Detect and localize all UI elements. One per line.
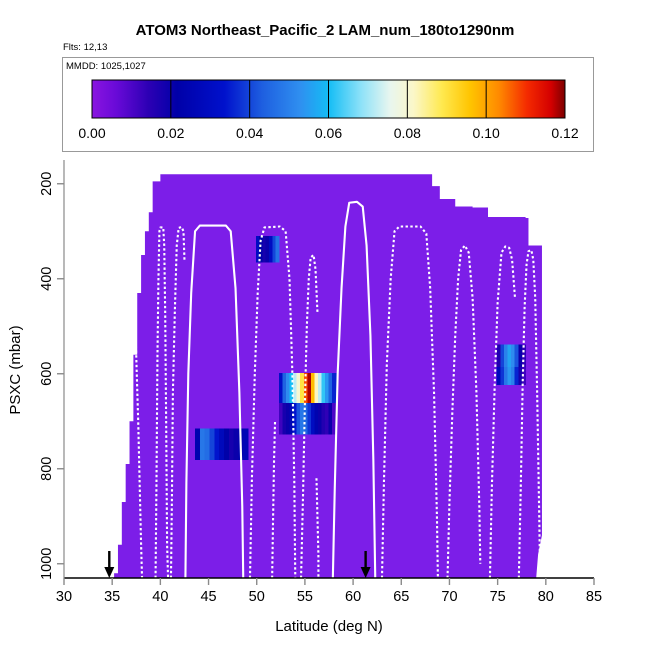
y-tick-label: 1000 [39, 548, 55, 580]
heatmap-cell [219, 428, 224, 460]
heatmap-cell [329, 403, 333, 434]
heatmap-cell [329, 373, 333, 403]
heatmap-cell [195, 428, 200, 460]
heatmap-cell [318, 403, 322, 434]
heatmap-cell [300, 373, 304, 403]
x-tick-label: 60 [345, 589, 361, 605]
heatmap-cell [214, 428, 219, 460]
heatmap-cell [311, 373, 315, 403]
x-axis-ticks: 303540455055606570758085 [56, 578, 602, 605]
y-axis-label: PSXC (mbar) [7, 325, 24, 414]
figure-root: ATOM3 Northeast_Pacific_2 LAM_num_180to1… [0, 0, 650, 650]
x-tick-label: 70 [441, 589, 457, 605]
x-tick-label: 45 [200, 589, 216, 605]
x-tick-label: 30 [56, 589, 72, 605]
colorbar-tick-label: 0.00 [78, 125, 105, 141]
heatmap-cell [508, 367, 512, 385]
y-tick-label: 400 [39, 267, 55, 291]
heatmap-cell [279, 403, 283, 434]
heatmap-cell [500, 367, 504, 385]
colorbar-group: 0.000.020.040.060.080.100.12 [78, 80, 578, 141]
heatmap-cell [500, 344, 504, 367]
heatmap-cell [518, 344, 522, 367]
heatmap-cell [322, 373, 326, 403]
heatmap-cell [314, 373, 318, 403]
y-axis-ticks: 2004006008001000 [39, 172, 64, 580]
heatmap-cell [511, 344, 515, 367]
colorbar-tick-label: 0.08 [394, 125, 421, 141]
x-tick-label: 40 [152, 589, 168, 605]
heatmap-cell [504, 367, 508, 385]
x-axis-label: Latitude (deg N) [275, 618, 383, 635]
y-tick-label: 800 [39, 457, 55, 481]
heatmap-cell [515, 344, 519, 367]
heatmap-cell [511, 367, 515, 385]
heatmap-cell [515, 367, 519, 385]
heatmap-cell [307, 373, 311, 403]
heatmap-cell [322, 403, 326, 434]
colorbar-tick-label: 0.02 [157, 125, 184, 141]
heatmap-cell [314, 403, 318, 434]
heatmap-cell [504, 344, 508, 367]
heatmap-cell [229, 428, 234, 460]
x-tick-label: 65 [393, 589, 409, 605]
heatmap-cell [293, 373, 297, 403]
x-tick-label: 35 [104, 589, 120, 605]
x-tick-label: 50 [249, 589, 265, 605]
heatmap-cell [276, 236, 280, 263]
heatmap-cell [325, 373, 329, 403]
heatmap-cell [508, 344, 512, 367]
colorbar-tick-label: 0.04 [236, 125, 263, 141]
heatmap-cell [200, 428, 205, 460]
heatmap-cell [282, 403, 286, 434]
heatmap-cell [297, 373, 301, 403]
y-tick-label: 600 [39, 362, 55, 386]
right-cyan-patch-lower [497, 367, 527, 385]
heatmap-cell [318, 373, 322, 403]
plot-area: 303540455055606570758085 200400600800100… [7, 160, 602, 635]
heatmap-cell [210, 428, 215, 460]
x-tick-label: 75 [490, 589, 506, 605]
arrow-marker-1 [104, 551, 114, 578]
figure-canvas: 0.000.020.040.060.080.100.12 30354045505… [0, 0, 650, 650]
heatmap-cell [297, 403, 301, 434]
heatmap-cell [279, 373, 283, 403]
heatmap-cell [224, 428, 229, 460]
y-tick-label: 200 [39, 172, 55, 196]
heatmap-cell [325, 403, 329, 434]
arrow-head [104, 567, 114, 578]
heatmap-cell [307, 403, 311, 434]
colorbar-tick-label: 0.12 [551, 125, 578, 141]
heatmap-cell [205, 428, 210, 460]
heatmap-cell [497, 344, 501, 367]
x-tick-label: 80 [538, 589, 554, 605]
x-tick-label: 55 [297, 589, 313, 605]
colorbar-tick-label: 0.10 [473, 125, 500, 141]
colorbar-tick-label: 0.06 [315, 125, 342, 141]
heatmap-cell [234, 428, 239, 460]
x-tick-label: 85 [586, 589, 602, 605]
central-hot-patch-upper [279, 373, 336, 403]
heatmap-cell [286, 403, 290, 434]
central-hot-patch-lower [279, 403, 336, 434]
upper-mid-blue-patch [256, 236, 280, 263]
right-cyan-patch-upper [497, 344, 527, 367]
heatmap-cell [332, 373, 336, 403]
heatmap-cell [282, 373, 286, 403]
heatmap-cell [286, 373, 290, 403]
heatmap-cell [311, 403, 315, 434]
heatmap-cell [243, 428, 248, 460]
heatmap-cell [497, 367, 501, 385]
